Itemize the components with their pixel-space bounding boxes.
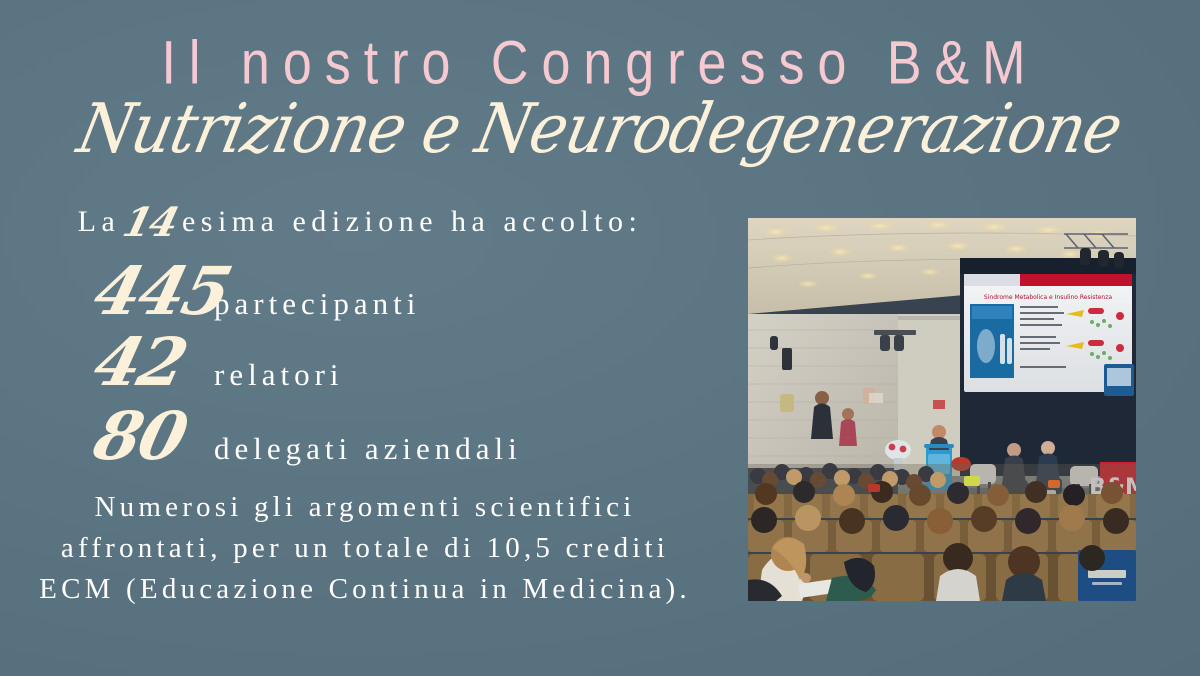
lead-prefix: La <box>78 205 121 238</box>
lead-suffix: esima edizione ha accolto: <box>182 205 642 238</box>
conference-photo-illustration: Sindrome Metabolica e Insulino Resistenz… <box>748 218 1136 601</box>
stat-label: delegati aziendali <box>214 431 522 467</box>
stat-row: 42 relatori <box>0 328 730 397</box>
content-column: La14esima edizione ha accolto: 445 parte… <box>0 205 730 610</box>
stat-row: 80 delegati aziendali <box>0 402 730 471</box>
stat-row: 445 partecipanti <box>0 257 730 326</box>
stat-number: 42 <box>87 328 222 397</box>
lead-line: La14esima edizione ha accolto: <box>0 205 730 239</box>
stat-number: 80 <box>87 402 222 471</box>
stat-number: 445 <box>87 257 222 326</box>
description-paragraph: Numerosi gli argomenti scientifici affro… <box>0 487 730 611</box>
page-subtitle: Nutrizione e Neurodegenerazione <box>0 88 1200 168</box>
stat-label: relatori <box>214 357 344 393</box>
conference-photo: Sindrome Metabolica e Insulino Resistenz… <box>748 218 1136 601</box>
stat-label: partecipanti <box>214 286 420 322</box>
poster-canvas: Il nostro Congresso B&M Nutrizione e Neu… <box>0 0 1200 676</box>
stats-list: 445 partecipanti 42 relatori 80 delegati… <box>0 257 730 471</box>
